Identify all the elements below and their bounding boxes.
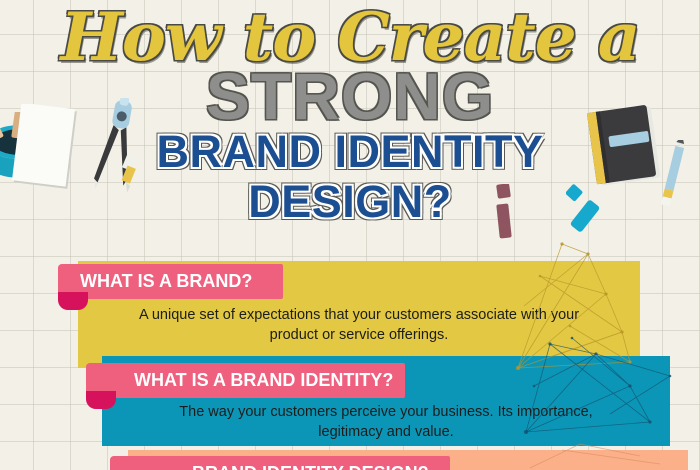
- title-line-design: DESIGN?: [0, 178, 700, 226]
- tab-label: WHAT IS A BRAND IDENTITY?: [134, 370, 393, 391]
- tab-label: WHAT IS A BRAND?: [80, 271, 252, 292]
- tab-brand-identity-design[interactable]: BRAND IDENTITY DESIGN?: [110, 456, 450, 470]
- title-block: How to Create a STRONG BRAND IDENTITY DE…: [0, 0, 700, 240]
- tab-what-is-a-brand[interactable]: WHAT IS A BRAND?: [58, 264, 283, 299]
- tab-label: BRAND IDENTITY DESIGN?: [192, 463, 429, 470]
- infographic-canvas: How to Create a STRONG BRAND IDENTITY DE…: [0, 0, 700, 470]
- title-line-brand: BRAND IDENTITY: [0, 128, 700, 176]
- title-line-strong: STRONG: [0, 62, 700, 130]
- tab-what-is-a-brand-identity[interactable]: WHAT IS A BRAND IDENTITY?: [86, 363, 405, 398]
